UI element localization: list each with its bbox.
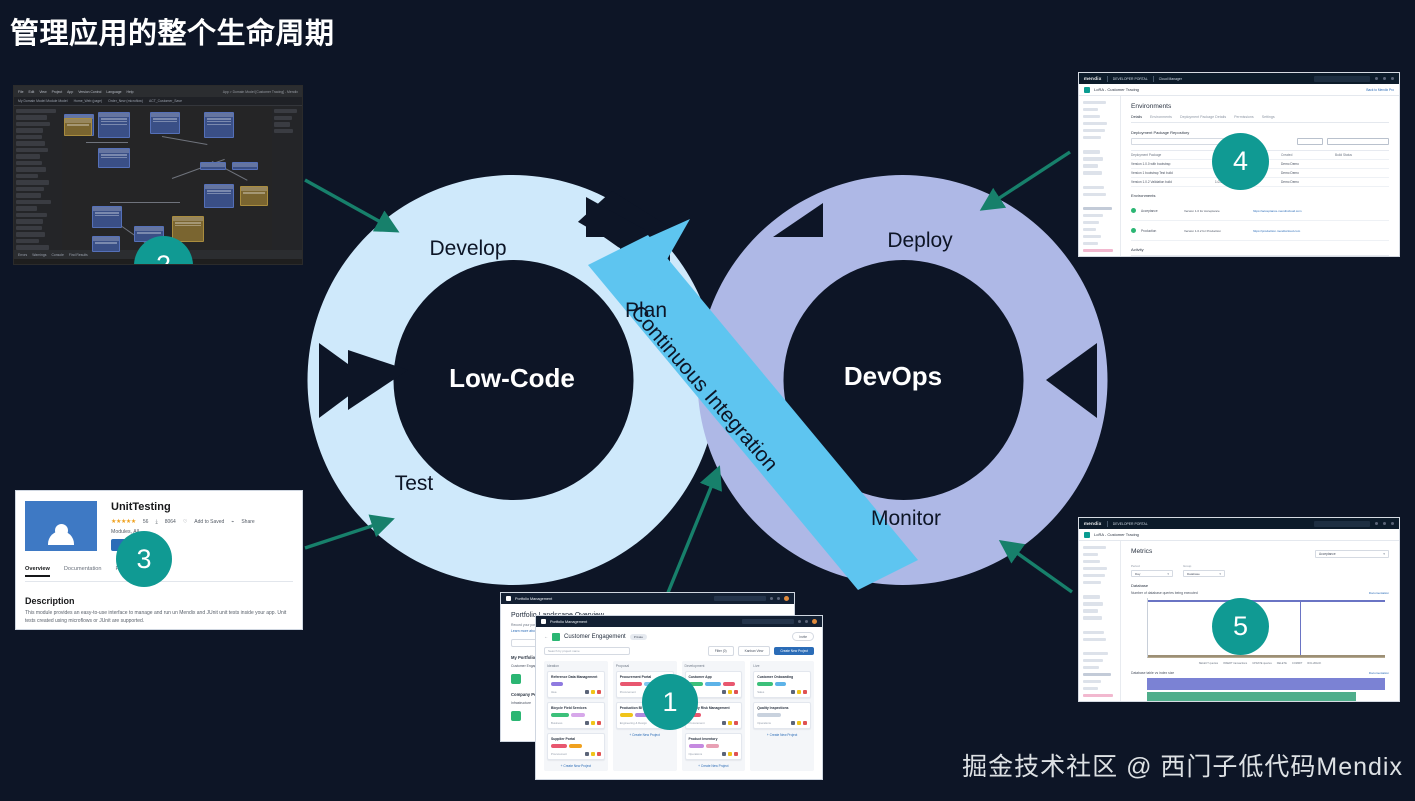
card-sub: Procurement — [551, 752, 567, 756]
period-filter[interactable]: Period Day ▾ — [1131, 564, 1173, 577]
help-icon[interactable] — [798, 620, 801, 623]
card-title: Customer App — [689, 675, 739, 679]
module-thumbnail — [25, 501, 97, 551]
watermark: 掘金技术社区 @ 西门子低代码Mendix — [962, 747, 1403, 783]
stage-label-test: Test — [395, 472, 434, 495]
cell-package-name: Version 1.0.0 with bootstrap — [1131, 162, 1209, 166]
table-index-size-chart — [1147, 678, 1385, 701]
portal-search-input[interactable] — [1314, 76, 1370, 82]
card-sub: Procurement — [689, 721, 705, 725]
legend-item: SELECT queries — [1199, 662, 1218, 665]
share-icon: ⌁ — [231, 519, 234, 525]
tab-settings[interactable]: Settings — [1262, 115, 1275, 119]
app-logo-icon — [506, 596, 511, 601]
toolbox-panel[interactable] — [272, 106, 302, 250]
status-warnings[interactable]: Warnings — [32, 253, 46, 257]
stage-label-deploy: Deploy — [887, 229, 953, 252]
board-search-input[interactable]: Search by project name — [544, 647, 630, 655]
column-title: Ideation — [547, 664, 605, 668]
add-to-saved-button[interactable]: Add to Saved — [194, 519, 224, 525]
chart-two-doc-link[interactable]: Documentation — [1369, 671, 1389, 675]
search-input[interactable] — [742, 619, 794, 625]
studio-editor-tabs[interactable]: My Domain Model Module Model Home_Web (p… — [14, 97, 302, 106]
column-title: Proposal — [616, 664, 674, 668]
cell-created: Demo Demo — [1281, 180, 1329, 184]
callout-badge-1: 1 — [642, 674, 698, 730]
menu-file[interactable]: File — [18, 90, 23, 94]
period-label: Period — [1131, 564, 1173, 568]
app-icon — [1084, 532, 1090, 538]
card-title: Customer Onboarding — [757, 675, 807, 679]
group-label: Group — [1183, 564, 1225, 568]
description-text: This module provides an easy-to-use inte… — [25, 609, 293, 625]
chart-one-doc-link[interactable]: Documentation — [1369, 591, 1389, 595]
card-title: Quality Inspections — [757, 706, 807, 710]
studio-window-title: App > Domain Model [Customer Tracing] - … — [223, 90, 298, 94]
notifications-icon[interactable] — [777, 597, 780, 600]
env-name: Production — [1141, 229, 1179, 233]
menu-help[interactable]: Help — [127, 90, 134, 94]
card-title: Bicycle Field Services — [551, 706, 601, 710]
card-sub: Business — [551, 721, 562, 725]
app-sub-nav[interactable]: LoRA - Customer Tracing Back to Mendix P… — [1079, 84, 1399, 96]
col-deployment-package: Deployment Package — [1131, 153, 1209, 157]
env-model: Version 1.0 for Acceptance — [1184, 209, 1248, 213]
filter-button[interactable]: Filter (0) — [708, 646, 734, 656]
tab-act-customer-save[interactable]: ACT_Customer_Save — [149, 99, 182, 103]
card-sub: Idea — [551, 690, 556, 694]
module-title: UnitTesting — [111, 501, 171, 513]
status-dot-running — [1131, 228, 1136, 233]
portal-sidebar[interactable] — [1079, 541, 1121, 701]
portfolio-app-bar[interactable]: Portfolio Management — [536, 616, 822, 627]
back-arrow-icon[interactable]: ← — [544, 634, 548, 639]
tab-order-new[interactable]: Order_New (microflow) — [108, 99, 143, 103]
nav-developer-portal[interactable]: DEVELOPER PORTAL — [1113, 522, 1148, 526]
screenshot-marketplace-unittesting[interactable]: UnitTesting ★★★★★ 56 ⤓ 8064 ♡ Add to Sav… — [15, 490, 303, 630]
share-button[interactable]: Share — [241, 519, 254, 525]
help-icon[interactable] — [1383, 77, 1386, 80]
board-title: Customer Engagement — [564, 634, 626, 640]
environment-row[interactable]: Production Version 1.0.2 for Production … — [1131, 221, 1389, 241]
status-console[interactable]: Console — [51, 253, 63, 257]
section-database: Database — [1131, 583, 1389, 588]
back-to-mendix-link[interactable]: Back to Mendix Pro — [1366, 88, 1394, 92]
chart-legend: SELECT queries INSERT transactions UPDAT… — [1131, 662, 1389, 665]
status-dot-running — [1131, 208, 1136, 213]
view-select[interactable]: Kanban View — [738, 646, 771, 656]
screenshot-developer-portal-environments[interactable]: mendix DEVELOPER PORTAL Cloud Manager Lo… — [1078, 72, 1400, 257]
download-icon: ⤓ — [155, 519, 157, 525]
legend-item: UPDATE queries — [1252, 662, 1272, 665]
section-activity: Activity — [1131, 247, 1389, 252]
add-project-link[interactable]: + Create New Project — [547, 764, 605, 768]
legend-item: INSERT transactions — [1223, 662, 1247, 665]
environment-row[interactable]: Acceptance Version 1.0 for Acceptance ht… — [1131, 201, 1389, 221]
domain-model-canvas[interactable] — [62, 106, 272, 250]
ring-weave-mask — [678, 185, 748, 295]
app-bar-title: Portfolio Management — [550, 620, 587, 624]
nav-cloud-manager[interactable]: Cloud Manager — [1159, 77, 1182, 81]
card-sub: Engineering & Design — [620, 721, 647, 725]
add-project-link[interactable]: + Create New Project — [753, 733, 811, 737]
visibility-badge: Private — [630, 634, 647, 640]
tab-overview[interactable]: Overview — [25, 566, 50, 577]
rating-count: 56 — [143, 519, 149, 525]
portfolio-item-icon — [511, 674, 521, 684]
notifications-icon[interactable] — [805, 620, 808, 623]
lifecycle-infinity-diagram: Develop Plan Test Low-Code Deploy Monito… — [318, 175, 1098, 585]
menu-version-control[interactable]: Version Control — [78, 90, 101, 94]
column-title: Live — [753, 664, 811, 668]
environment-tabs[interactable]: Details Environments Deployment Package … — [1131, 115, 1389, 123]
download-count: 8064 — [165, 519, 176, 525]
kanban-card[interactable]: Reference Data Management Idea — [547, 671, 605, 698]
studio-menu-bar[interactable]: File Edit View Project App Version Contr… — [14, 86, 302, 97]
stage-label-monitor: Monitor — [871, 507, 941, 530]
menu-language[interactable]: Language — [106, 90, 121, 94]
add-project-link[interactable]: + Create New Project — [685, 764, 743, 768]
portfolio-app-bar[interactable]: Portfolio Management — [501, 593, 794, 604]
activity-table: Activity Date — [1131, 255, 1389, 256]
kanban-card[interactable]: Quality Inspections Operations — [753, 702, 811, 729]
card-title: Product Inventory — [689, 737, 739, 741]
search-input[interactable] — [714, 596, 766, 602]
tab-domain-model[interactable]: My Domain Model Module Model — [18, 99, 68, 103]
kanban-card[interactable]: Supplier Portal Procurement — [547, 733, 605, 760]
tab-documentation[interactable]: Documentation — [64, 566, 102, 577]
board-icon — [552, 633, 560, 641]
legend-item: COMMIT — [1292, 662, 1303, 665]
app-name[interactable]: LoRA - Customer Tracing — [1094, 87, 1139, 92]
portal-top-nav[interactable]: mendix DEVELOPER PORTAL — [1079, 518, 1399, 529]
description-heading: Description — [25, 596, 75, 606]
chart-one-title: Number of database queries being execute… — [1131, 591, 1198, 595]
rating-stars: ★★★★★ — [111, 518, 136, 525]
chart-two-title: Database table vs index size — [1131, 671, 1174, 675]
tab-details[interactable]: Details — [1131, 115, 1142, 119]
legend-item: DELETE — [1277, 662, 1287, 665]
mendix-logo[interactable]: mendix — [1084, 521, 1102, 526]
apps-grid-icon[interactable] — [1375, 77, 1378, 80]
save-icon: ♡ — [183, 519, 187, 525]
kanban-card[interactable]: Bicycle Field Services Business — [547, 702, 605, 729]
env-name: Acceptance — [1141, 209, 1179, 213]
cell-created: Demo Demo — [1281, 162, 1329, 166]
app-bar-title: Portfolio Management — [515, 597, 552, 601]
cell-created: Demo Demo — [1281, 171, 1329, 175]
app-icon — [1084, 87, 1090, 93]
tab-environments[interactable]: Environments — [1150, 115, 1172, 119]
kanban-card[interactable]: Product Inventory Operations — [685, 733, 743, 760]
app-sub-nav[interactable]: LoRA - Customer Tracing — [1079, 529, 1399, 541]
legend-item: ROLLBACK — [1307, 662, 1321, 665]
help-icon[interactable] — [770, 597, 773, 600]
column-title: Development — [685, 664, 743, 668]
menu-view[interactable]: View — [39, 90, 46, 94]
menu-edit[interactable]: Edit — [28, 90, 34, 94]
portfolio-item-icon — [511, 711, 521, 721]
tab-permissions[interactable]: Permissions — [1234, 115, 1254, 119]
avatar[interactable] — [1391, 77, 1394, 80]
cell-package-name: Version 1 bootstrap Test build — [1131, 171, 1209, 175]
kanban-column-live: Live Customer Onboarding Sales Quality I… — [750, 661, 814, 771]
center-label-low-code: Low-Code — [449, 363, 575, 393]
help-icon[interactable] — [1383, 522, 1386, 525]
callout-badge-4: 4 — [1212, 133, 1269, 190]
tab-deployment-package-details[interactable]: Deployment Package Details — [1180, 115, 1226, 119]
env-url[interactable]: https://acceptance.mendixcloud.com — [1253, 209, 1302, 213]
kanban-column-ideation: Ideation Reference Data Management Idea … — [544, 661, 608, 771]
section-environments: Environments — [1131, 193, 1389, 198]
avatar[interactable] — [784, 596, 789, 601]
callout-badge-5: 5 — [1212, 598, 1269, 655]
create-deployment-package-button[interactable] — [1327, 138, 1389, 145]
section-deployment-repository: Deployment Package Repository — [1131, 130, 1389, 135]
environment-select[interactable]: Acceptance — [1319, 552, 1336, 556]
add-project-link[interactable]: + Create New Project — [616, 733, 674, 737]
create-new-project-button[interactable]: Create New Project — [774, 647, 814, 655]
status-find-results[interactable]: Find Results — [69, 253, 88, 257]
card-sub: Procurement — [620, 690, 636, 694]
period-value[interactable]: Day — [1135, 572, 1140, 576]
screenshot-developer-portal-metrics[interactable]: mendix DEVELOPER PORTAL LoRA - Customer … — [1078, 517, 1400, 702]
col-build-status: Build Status — [1335, 153, 1352, 157]
screenshot-studio-pro-domain-model[interactable]: File Edit View Project App Version Contr… — [13, 85, 303, 265]
tab-home-web[interactable]: Home_Web (page) — [74, 99, 103, 103]
status-errors[interactable]: Errors — [18, 253, 27, 257]
invite-button[interactable]: Invite — [792, 632, 814, 641]
app-logo-icon — [541, 619, 546, 624]
portal-top-nav[interactable]: mendix DEVELOPER PORTAL Cloud Manager — [1079, 73, 1399, 84]
group-filter[interactable]: Group Database ▾ — [1183, 564, 1225, 577]
menu-app[interactable]: App — [67, 90, 73, 94]
app-name[interactable]: LoRA - Customer Tracing — [1094, 532, 1139, 537]
kanban-card[interactable]: Customer Onboarding Sales — [753, 671, 811, 698]
mendix-logo[interactable]: mendix — [1084, 76, 1102, 81]
cell-package-name: Version 1.0.2 Validation build — [1131, 180, 1209, 184]
portal-sidebar[interactable] — [1079, 96, 1121, 256]
apps-grid-icon[interactable] — [1375, 522, 1378, 525]
card-title: Supplier Portal — [551, 737, 601, 741]
center-label-devops: DevOps — [844, 361, 942, 391]
callout-badge-3: 3 — [116, 531, 172, 587]
group-value[interactable]: Database — [1187, 572, 1200, 576]
env-model: Version 1.0.2 for Production — [1184, 229, 1248, 233]
stage-label-develop: Develop — [429, 237, 506, 260]
avatar[interactable] — [1391, 522, 1394, 525]
screenshot-customer-engagement-board[interactable]: Portfolio Management ← Customer Engageme… — [535, 615, 823, 780]
card-sub: Operations — [689, 752, 703, 756]
chevron-down-icon[interactable]: ▾ — [1383, 552, 1385, 556]
menu-project[interactable]: Project — [52, 90, 63, 94]
page-title: 管理应用的整个生命周期 — [10, 10, 335, 52]
env-url[interactable]: https://production.mendixcloud.com — [1253, 229, 1300, 233]
page-title-environments: Environments — [1131, 103, 1389, 110]
card-title: Reference Data Management — [551, 675, 601, 679]
upload-button[interactable] — [1297, 138, 1323, 145]
col-created: Created — [1281, 153, 1329, 157]
avatar[interactable] — [812, 619, 817, 624]
nav-developer-portal[interactable]: DEVELOPER PORTAL — [1113, 77, 1148, 81]
slide-canvas: 管理应用的整个生命周期 — [0, 0, 1415, 801]
card-sub: Operations — [757, 721, 771, 725]
app-explorer-panel[interactable] — [14, 106, 62, 250]
page-title-metrics: Metrics — [1131, 548, 1152, 555]
sidebar-group-label — [1083, 144, 1116, 148]
portal-search-input[interactable] — [1314, 521, 1370, 527]
card-sub: Sales — [757, 690, 764, 694]
